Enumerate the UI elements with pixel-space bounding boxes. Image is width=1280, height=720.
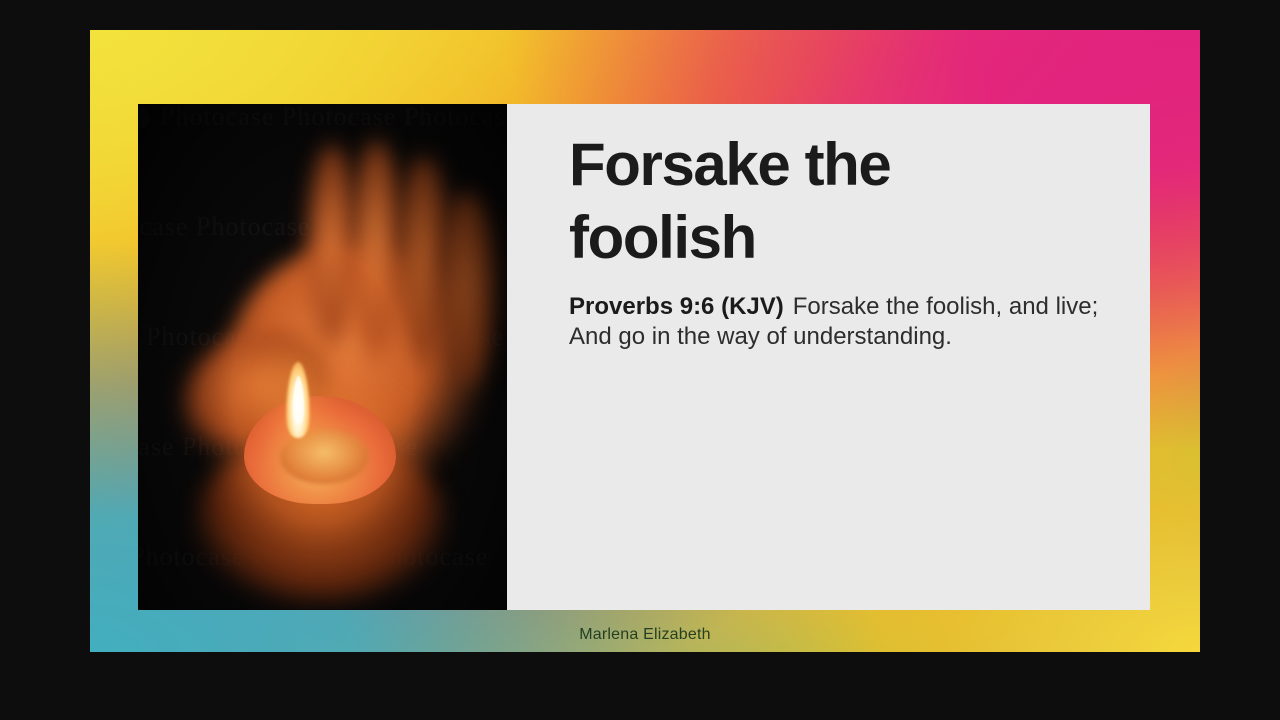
letterbox-left-bar xyxy=(0,0,90,720)
verse-reference: Proverbs 9:6 (KJV) xyxy=(569,293,784,320)
slide-content-panel: Forsake the foolish Proverbs 9:6 (KJV)Fo… xyxy=(507,104,1150,610)
slide-title: Forsake the foolish xyxy=(507,104,1150,274)
photo-watermark: Photocase Photocase Photocase xyxy=(138,104,507,132)
hand-finger xyxy=(438,192,496,388)
letterbox-right-bar xyxy=(1200,0,1280,720)
letterbox-top-bar xyxy=(0,0,1280,30)
watermark-badge-icon xyxy=(138,107,150,129)
video-frame: Photocase Photocase Photocase Photocase … xyxy=(0,0,1280,720)
candle-wax-well xyxy=(280,430,368,484)
watermark-text: Photocase Photocase Photocase xyxy=(160,104,507,131)
author-credit: Marlena Elizabeth xyxy=(90,626,1200,644)
letterbox-bottom-bar xyxy=(0,652,1280,720)
candle-photo: Photocase Photocase Photocase Photocase … xyxy=(138,104,507,610)
slide-body-text: Proverbs 9:6 (KJV)Forsake the foolish, a… xyxy=(507,274,1150,351)
presentation-slide: Photocase Photocase Photocase Photocase … xyxy=(90,30,1200,652)
